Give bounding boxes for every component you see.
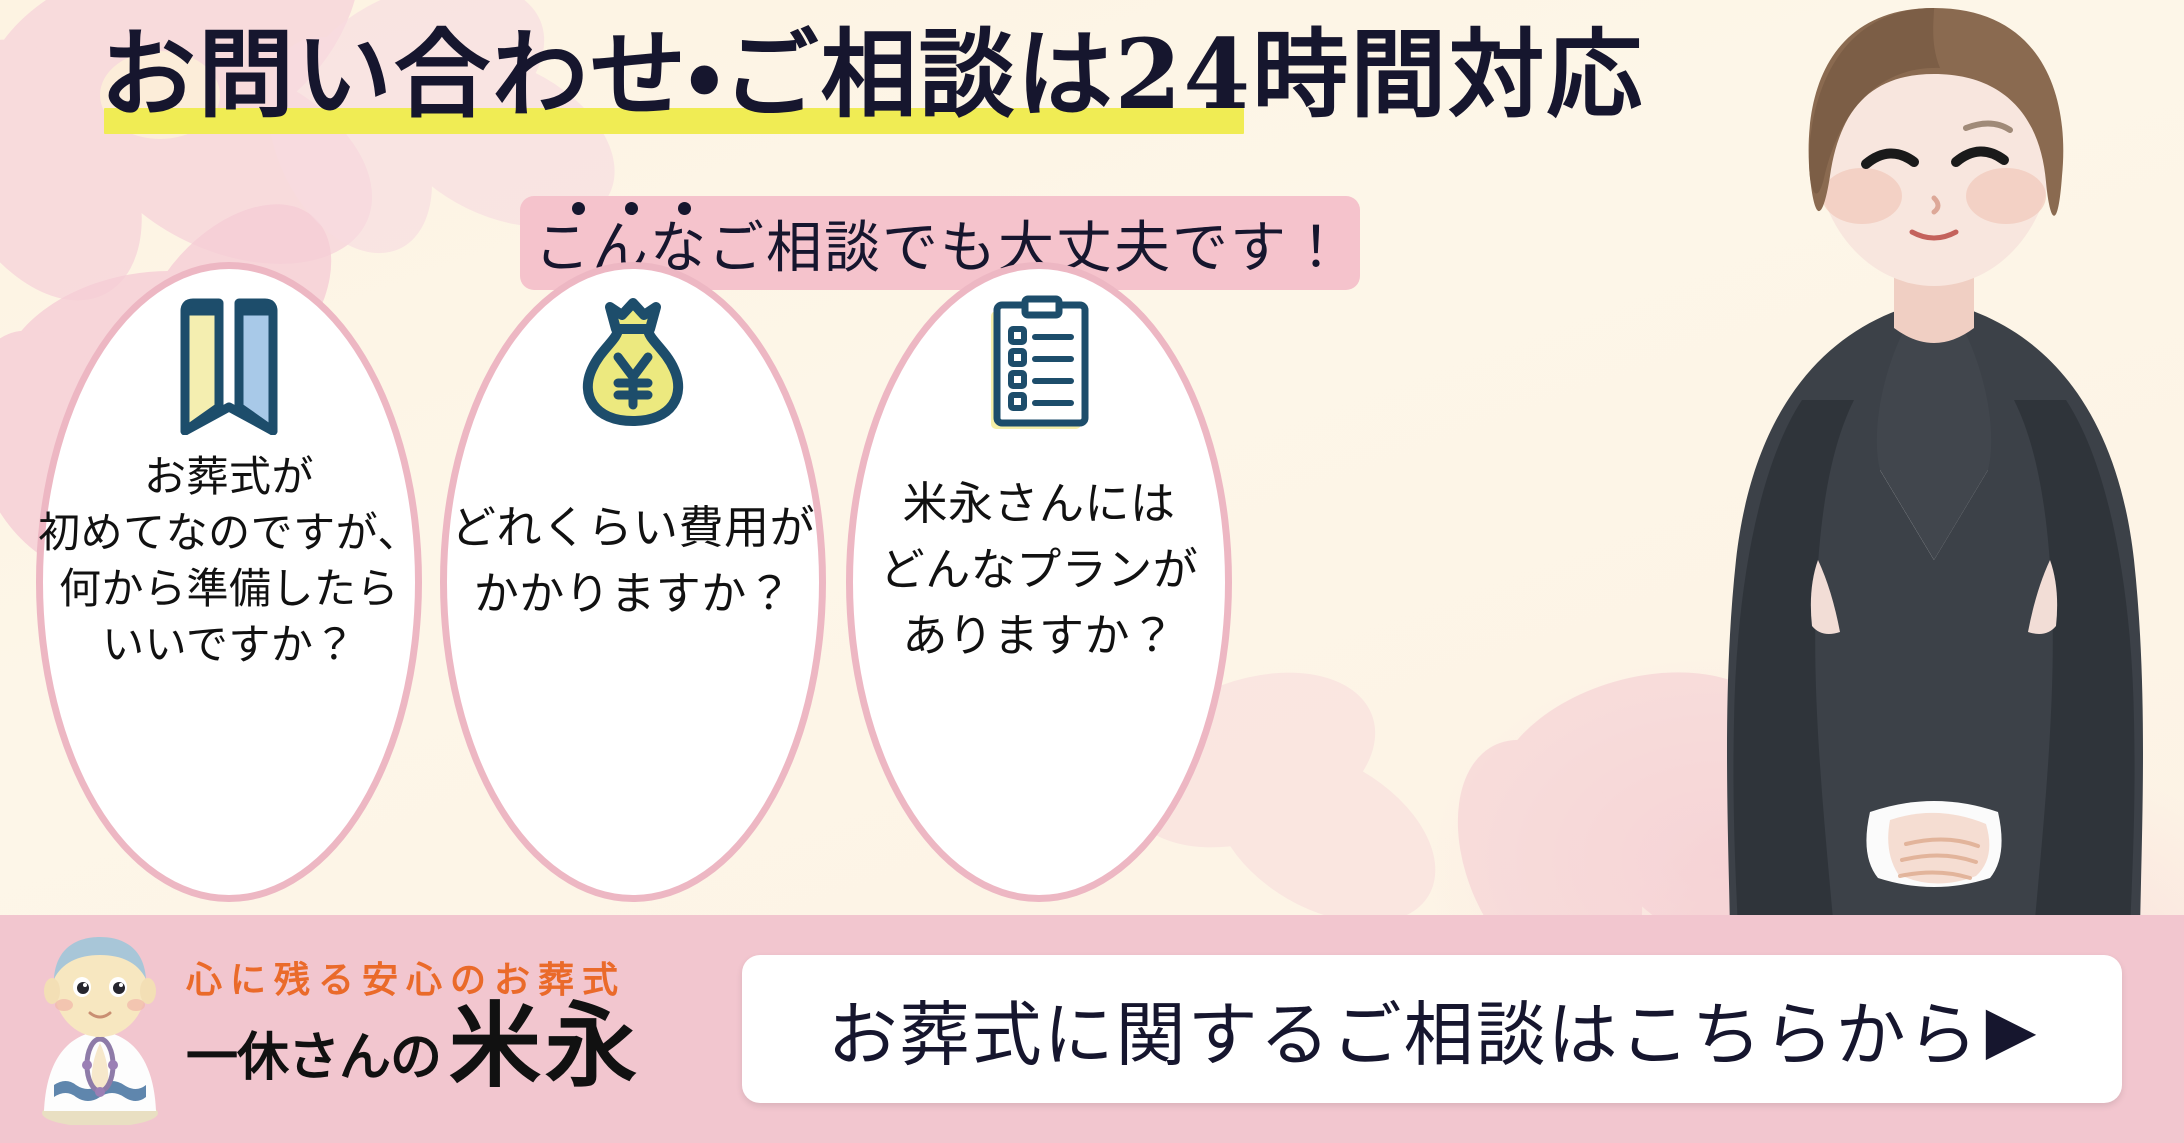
company-logo[interactable]: 心に残る安心のお葬式 一休さんの 米永 <box>34 929 674 1129</box>
question-line: どれくらい費用が <box>451 495 815 561</box>
question-line: ありますか？ <box>880 603 1199 669</box>
contact-banner: お問い合わせ・ご相談は24時間対応 こんなご相談でも大丈夫です！ お葬式が 初め… <box>0 0 2184 1143</box>
question-line: お葬式が <box>38 449 420 505</box>
woman-in-black-suit-illustration <box>1684 0 2184 930</box>
question-circle-2-text: どれくらい費用が かかりますか？ <box>451 495 815 627</box>
headline-block: お問い合わせ・ご相談は24時間対応 <box>100 16 1720 144</box>
logo-name-prefix: 一休さんの <box>186 1015 441 1090</box>
question-circle-1-text: お葬式が 初めてなのですが、 何から準備したら いいですか？ <box>38 449 420 673</box>
question-circle-1: お葬式が 初めてなのですが、 何から準備したら いいですか？ <box>36 262 422 902</box>
question-circle-2: どれくらい費用が かかりますか？ <box>440 262 826 902</box>
question-line: どんなプランが <box>880 537 1199 603</box>
page-title: お問い合わせ・ご相談は24時間対応 <box>100 16 1644 134</box>
money-bag-yen-icon <box>570 291 696 441</box>
question-line: かかりますか？ <box>451 561 815 627</box>
question-circle-3: 米永さんには どんなプランが ありますか？ <box>846 262 1232 902</box>
play-arrow-icon: ▶ <box>1986 996 2037 1062</box>
logo-name-main: 米永 <box>449 1003 641 1090</box>
beginner-badge-icon <box>171 291 287 441</box>
clipboard-checklist-icon <box>981 291 1097 441</box>
question-line: 初めてなのですが、 <box>38 505 420 561</box>
footer-bar: 心に残る安心のお葬式 一休さんの 米永 お葬式に関するご相談はこちらから ▶ <box>0 915 2184 1143</box>
logo-name: 一休さんの 米永 <box>186 1003 641 1090</box>
question-line: いいですか？ <box>38 617 420 673</box>
question-line: 米永さんには <box>880 471 1199 537</box>
question-circle-3-text: 米永さんには どんなプランが ありますか？ <box>880 471 1199 669</box>
consultation-cta-button[interactable]: お葬式に関するご相談はこちらから ▶ <box>742 955 2122 1103</box>
monk-mascot-icon <box>34 935 166 1125</box>
question-line: 何から準備したら <box>38 561 420 617</box>
cta-label: お葬式に関するご相談はこちらから <box>828 979 1980 1080</box>
